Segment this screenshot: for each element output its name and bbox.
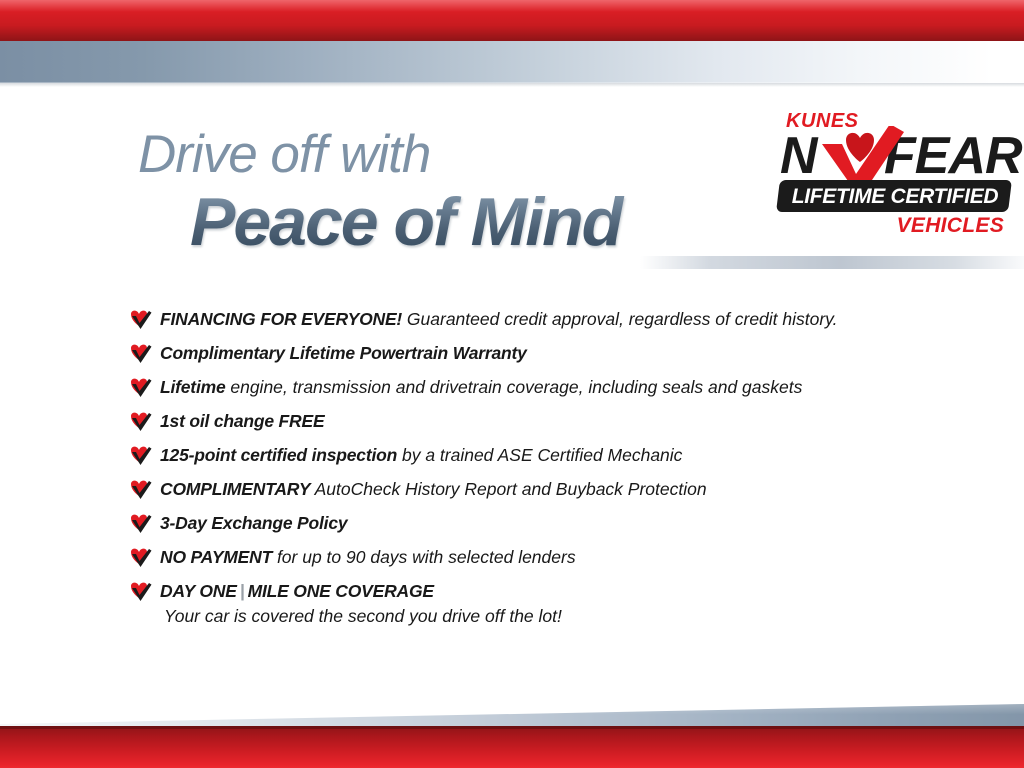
bottom-red-bar-edge (0, 726, 1024, 729)
bottom-red-bar (0, 726, 1024, 768)
list-item-strong: NO PAYMENT (160, 547, 272, 567)
list-item-strong: 125-point certified inspection (160, 445, 397, 465)
heart-check-bullet-icon (130, 548, 152, 568)
list-item: 1st oil change FREE (130, 411, 970, 432)
list-item: COMPLIMENTARY AutoCheck History Report a… (130, 479, 970, 500)
heart-check-bullet-icon (130, 514, 152, 534)
headline-block: Drive off with Peace of Mind (138, 126, 738, 258)
list-item: NO PAYMENT for up to 90 days with select… (130, 547, 970, 568)
list-item-strong: 1st oil change FREE (160, 411, 324, 431)
list-item-rest: engine, transmission and drivetrain cove… (226, 377, 803, 397)
logo-word-fear: FEAR (884, 130, 1022, 182)
list-item-strong: 3-Day Exchange Policy (160, 513, 347, 533)
logo-letter-n: N (780, 130, 816, 182)
top-bar-shadow (0, 83, 1024, 87)
list-item: Complimentary Lifetime Powertrain Warran… (130, 343, 970, 364)
list-item-strong-2: MILE ONE COVERAGE (248, 581, 434, 601)
list-item: 3-Day Exchange Policy (130, 513, 970, 534)
headline-line-1: Drive off with (138, 126, 738, 184)
list-item-strong: DAY ONE (160, 581, 237, 601)
heart-check-bullet-icon (130, 446, 152, 466)
list-item-rest: by a trained ASE Certified Mechanic (397, 445, 682, 465)
headline-underband (640, 256, 1024, 269)
heart-check-bullet-icon (130, 480, 152, 500)
list-item: FINANCING FOR EVERYONE! Guaranteed credi… (130, 309, 970, 330)
list-item: 125-point certified inspection by a trai… (130, 445, 970, 466)
list-item-separator: | (237, 581, 248, 601)
list-item-strong: Complimentary Lifetime Powertrain Warran… (160, 343, 527, 363)
heart-check-bullet-icon (130, 412, 152, 432)
list-item-strong: FINANCING FOR EVERYONE! (160, 309, 402, 329)
heart-check-bullet-icon (130, 378, 152, 398)
list-item-subtext: Your car is covered the second you drive… (164, 606, 970, 627)
list-item: DAY ONE|MILE ONE COVERAGE Your car is co… (130, 581, 970, 627)
top-red-bar (0, 0, 1024, 41)
logo-bar-label: LIFETIME CERTIFIED (786, 184, 1004, 210)
list-item-strong: COMPLIMENTARY (160, 479, 310, 499)
top-gray-bar (0, 41, 1024, 83)
heart-check-bullet-icon (130, 344, 152, 364)
list-item-rest: AutoCheck History Report and Buyback Pro… (310, 479, 706, 499)
kunes-no-fear-logo: KUNES N FEAR LIFETIME CERTIFIED VEHICLES (776, 110, 1012, 250)
headline-line-2: Peace of Mind (190, 186, 738, 258)
list-item-rest: for up to 90 days with selected lenders (272, 547, 576, 567)
heart-check-bullet-icon (130, 310, 152, 330)
list-item-rest: Guaranteed credit approval, regardless o… (402, 309, 837, 329)
heart-check-bullet-icon (130, 582, 152, 602)
top-red-bar-sheen (0, 0, 1024, 12)
logo-footer-vehicles: VEHICLES (897, 214, 1004, 238)
list-item: Lifetime engine, transmission and drivet… (130, 377, 970, 398)
list-item-strong: Lifetime (160, 377, 226, 397)
benefits-list: FINANCING FOR EVERYONE! Guaranteed credi… (130, 309, 970, 640)
promo-graphic: Drive off with Peace of Mind KUNES N FEA… (0, 0, 1024, 768)
